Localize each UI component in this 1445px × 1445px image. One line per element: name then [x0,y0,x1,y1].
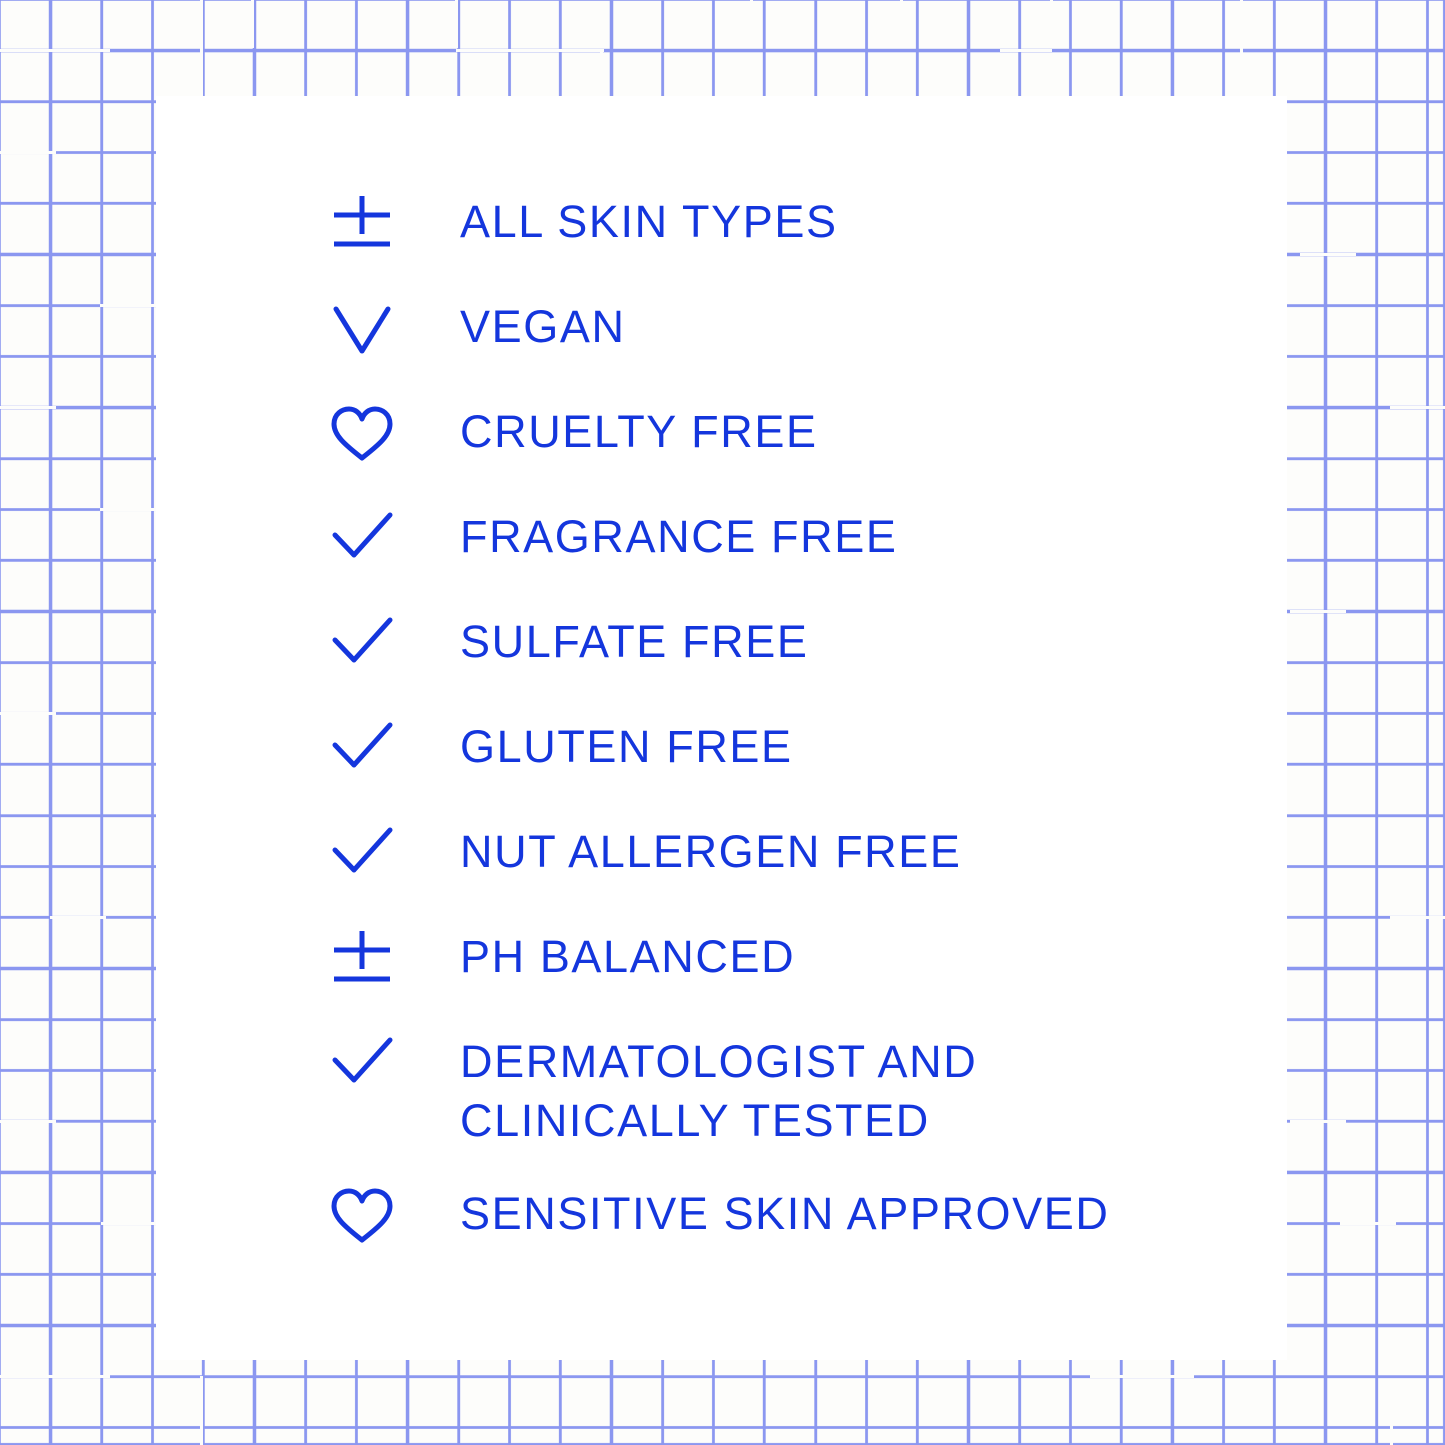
checkmark-icon [330,715,460,781]
claims-list: ALL SKIN TYPES VEGAN CRUELTY FREE [330,190,1270,1287]
claim-label: DERMATOLOGIST AND CLINICALLY TESTED [460,1030,1270,1150]
claim-item-nut-allergen-free[interactable]: NUT ALLERGEN FREE [330,820,1270,925]
checkmark-icon [330,820,460,886]
grid-gap [0,712,56,715]
claim-label: NUT ALLERGEN FREE [460,820,1270,881]
claim-item-sensitive-skin-approved[interactable]: SENSITIVE SKIN APPROVED [330,1182,1270,1287]
claim-label: ALL SKIN TYPES [460,190,1270,251]
grid-gap [1090,1375,1194,1378]
grid-gap [0,1375,110,1378]
grid-gap [455,0,458,48]
grid-gap [0,49,110,52]
grid-gap [251,0,254,48]
grid-gap [1000,49,1052,52]
grid-gap [200,0,203,100]
grid-gap [600,49,603,101]
grid-gap [1290,610,1346,613]
checkmark-icon [330,610,460,676]
claim-item-ph-balanced[interactable]: PH BALANCED [330,925,1270,1030]
grid-gap [200,1376,203,1445]
claim-item-sulfate-free[interactable]: SULFATE FREE [330,610,1270,715]
claim-item-cruelty-free[interactable]: CRUELTY FREE [330,400,1270,505]
grid-gap [1300,253,1356,256]
claim-item-all-skin-types[interactable]: ALL SKIN TYPES [330,190,1270,295]
heart-icon [330,1182,460,1248]
graphic-canvas: ALL SKIN TYPES VEGAN CRUELTY FREE [0,0,1445,1445]
grid-gap [456,49,604,52]
claims-card: ALL SKIN TYPES VEGAN CRUELTY FREE [156,96,1287,1360]
checkmark-icon [330,505,460,571]
claim-item-dermatologist-clinically-tested[interactable]: DERMATOLOGIST AND CLINICALLY TESTED [330,1030,1270,1182]
claim-item-gluten-free[interactable]: GLUTEN FREE [330,715,1270,820]
grid-gap [0,1120,56,1123]
v-leaf-icon [330,295,460,361]
plus-minus-icon [330,925,460,991]
grid-gap [1290,1120,1346,1123]
grid-gap [1390,916,1445,919]
grid-gap [1050,0,1053,48]
plus-minus-icon [330,190,460,256]
grid-gap [900,0,903,48]
heart-icon [330,400,460,466]
claim-label: SULFATE FREE [460,610,1270,671]
grid-gap [1390,1396,1393,1445]
claim-label: FRAGRANCE FREE [460,505,1270,566]
claim-item-vegan[interactable]: VEGAN [330,295,1270,400]
claim-label: GLUTEN FREE [460,715,1270,776]
grid-gap [100,508,156,511]
claim-item-fragrance-free[interactable]: FRAGRANCE FREE [330,505,1270,610]
claim-label: VEGAN [460,295,1270,356]
grid-gap [101,1222,157,1225]
grid-gap [750,0,753,48]
grid-gap [1390,406,1445,409]
grid-gap [100,304,156,307]
grid-gap [1340,1222,1396,1225]
grid-gap [0,151,56,154]
claim-label: CRUELTY FREE [460,400,1270,461]
claim-label: PH BALANCED [460,925,1270,986]
grid-gap [50,916,106,919]
claim-label: SENSITIVE SKIN APPROVED [460,1182,1270,1243]
checkmark-icon [330,1030,460,1096]
grid-gap [0,406,56,409]
grid-gap [1240,0,1243,100]
